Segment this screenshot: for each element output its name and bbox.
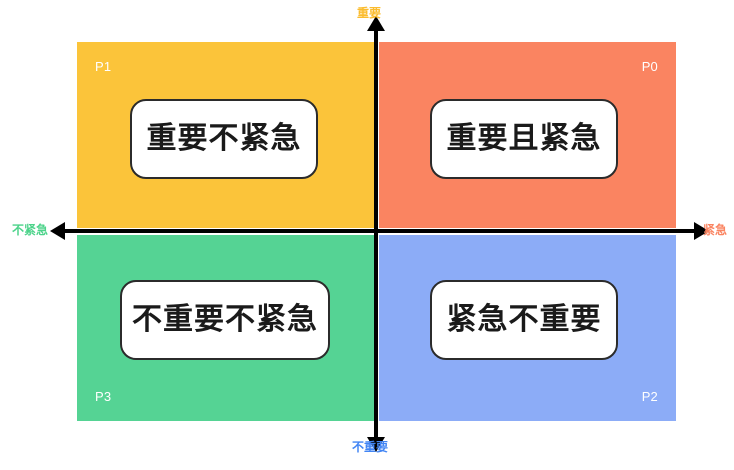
priority-matrix-diagram: P1 P0 P3 P2 重要 不重要 不紧急 紧急 重要不紧急 重要且紧急 不重…: [0, 0, 734, 470]
axis-arrow-left-icon: [50, 222, 65, 240]
quadrant-p2-label: 紧急不重要: [447, 305, 602, 335]
quadrant-p0-label: 重要且紧急: [447, 124, 602, 154]
quadrant-p3-code: P3: [95, 390, 111, 403]
quadrant-p1-label-box[interactable]: 重要不紧急: [130, 99, 318, 179]
axis-label-urgent: 紧急: [703, 224, 727, 236]
axis-label-not-urgent: 不紧急: [12, 224, 48, 236]
axis-label-not-important: 不重要: [352, 441, 388, 453]
quadrant-p1-code: P1: [95, 60, 111, 73]
quadrant-p3-label: 不重要不紧急: [132, 305, 318, 335]
quadrant-p3-label-box[interactable]: 不重要不紧急: [120, 280, 330, 360]
quadrant-p2-label-box[interactable]: 紧急不重要: [430, 280, 618, 360]
quadrant-p0-label-box[interactable]: 重要且紧急: [430, 99, 618, 179]
horizontal-axis-line: [64, 229, 696, 233]
quadrant-p2-code: P2: [642, 390, 658, 403]
quadrant-p1-label: 重要不紧急: [147, 124, 302, 154]
quadrant-p0-code: P0: [642, 60, 658, 73]
vertical-axis-line: [374, 22, 378, 447]
axis-label-important: 重要: [357, 7, 381, 19]
